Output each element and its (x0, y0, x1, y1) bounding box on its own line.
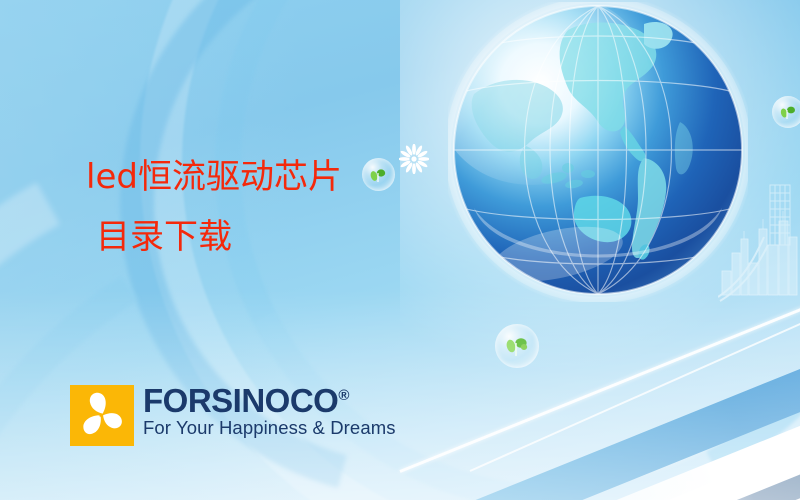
brand-name: FORSINOCO® (143, 384, 396, 418)
four-petal-pinwheel-icon (70, 385, 134, 446)
headline-line-1: led恒流驱动芯片 (80, 160, 410, 194)
ribbon-band-white (515, 346, 800, 500)
page-title: led恒流驱动芯片 目录下载 (80, 160, 410, 254)
brand-logo[interactable]: FORSINOCO® For Your Happiness & Dreams (70, 385, 396, 446)
bubble-sprout-center (495, 324, 539, 368)
earth-globe-icon (448, 2, 748, 302)
brand-name-text: FORSINOCO (143, 382, 338, 419)
brand-tagline: For Your Happiness & Dreams (143, 417, 396, 438)
bubble-sprout-right (772, 96, 800, 128)
ribbon-band-base (413, 371, 800, 500)
brand-wordmark: FORSINOCO® For Your Happiness & Dreams (143, 384, 396, 438)
ribbon-band-blue (423, 297, 800, 500)
ribbon-band-dark (636, 383, 800, 500)
registered-trademark-icon: ® (338, 387, 349, 404)
headline-line-2: 目录下载 (80, 220, 410, 254)
promo-banner: led恒流驱动芯片 目录下载 FORSINOCO® For Your Happi… (0, 0, 800, 500)
